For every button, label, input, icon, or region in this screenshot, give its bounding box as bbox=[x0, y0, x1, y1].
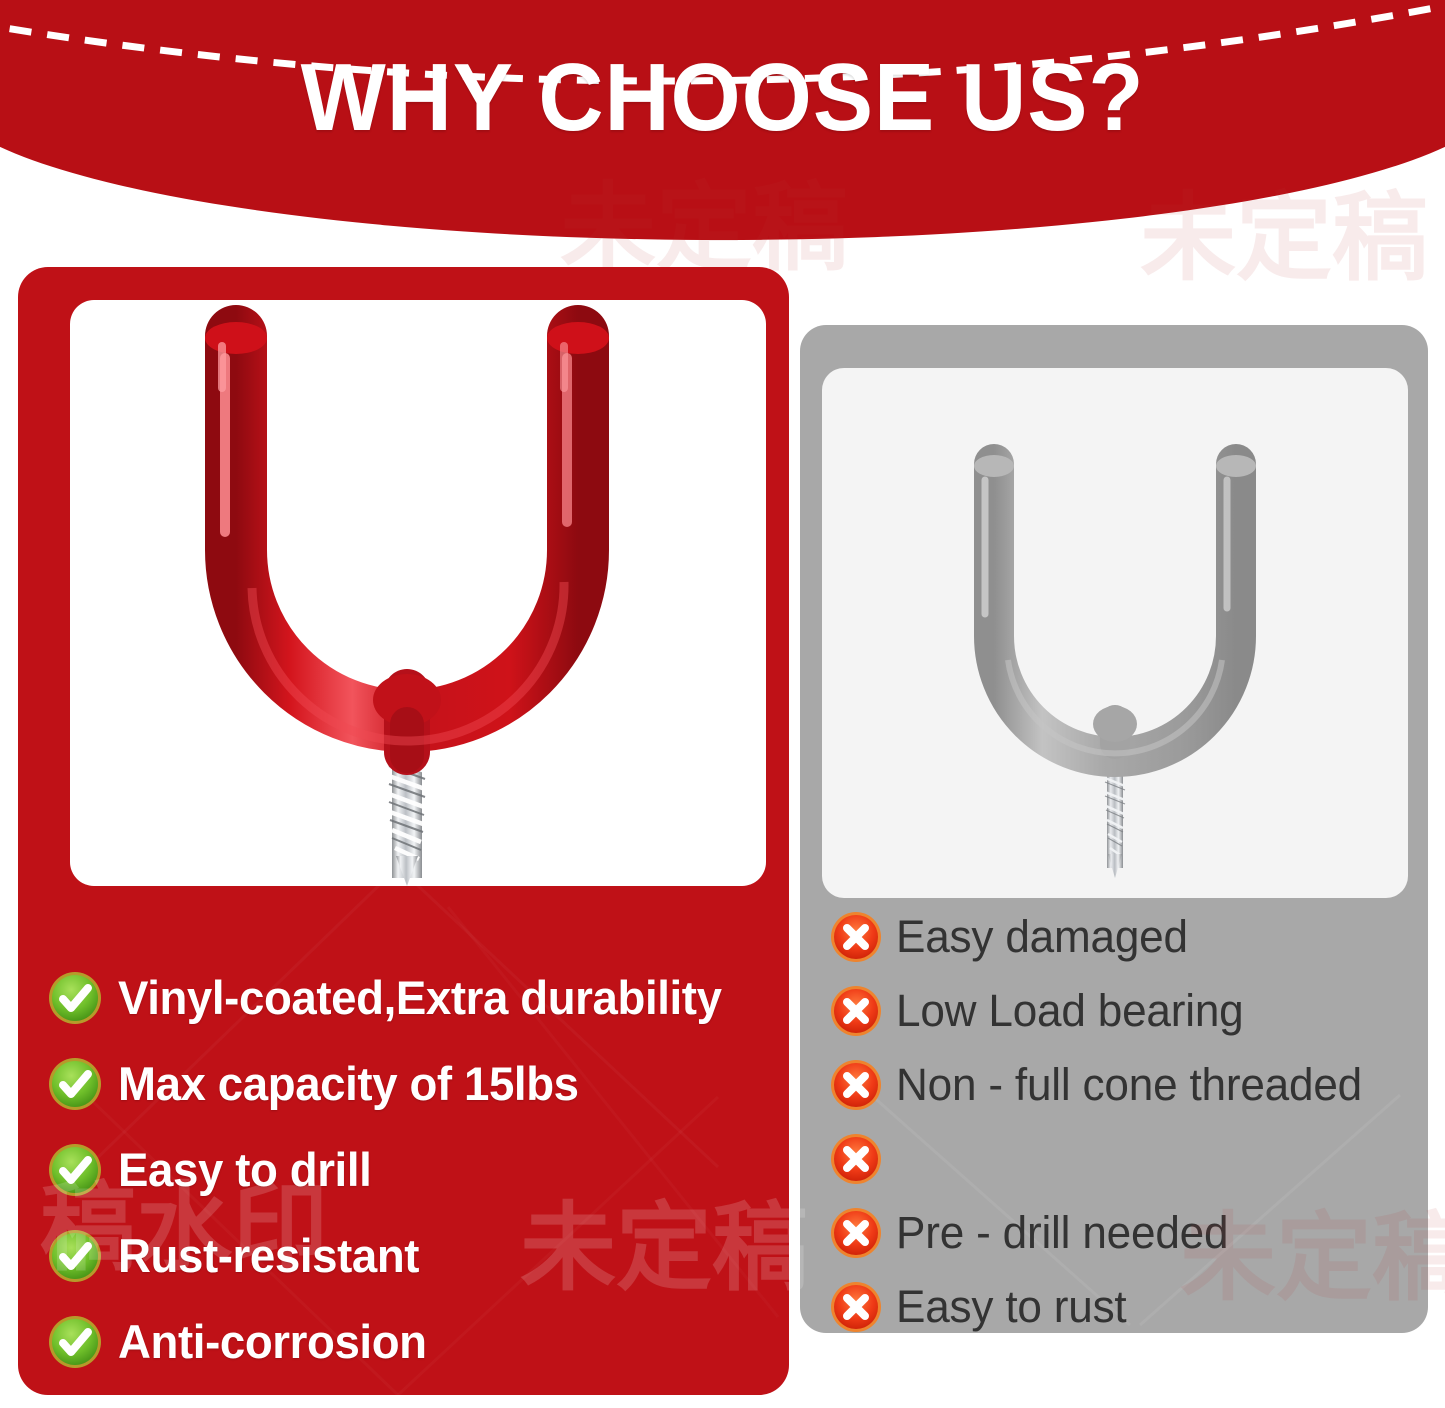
list-item-label: Rust-resistant bbox=[118, 1231, 419, 1281]
list-item: Non - full cone threaded bbox=[830, 1048, 1430, 1122]
list-item: Easy damaged bbox=[830, 900, 1430, 974]
gray-u-hook bbox=[974, 455, 1256, 757]
list-item-label: Low Load bearing bbox=[896, 987, 1244, 1035]
check-circle-icon bbox=[48, 1315, 102, 1369]
list-item: Easy to drill bbox=[48, 1127, 788, 1213]
our-features-list: Vinyl-coated,Extra durability Max capaci… bbox=[48, 955, 788, 1385]
list-item-label: Easy to rust bbox=[896, 1283, 1126, 1331]
cross-circle-icon bbox=[830, 911, 882, 963]
list-item: Vinyl-coated,Extra durability bbox=[48, 955, 788, 1041]
list-item-label: Max capacity of 15lbs bbox=[118, 1059, 579, 1109]
check-circle-icon bbox=[48, 1057, 102, 1111]
red-u-hook bbox=[205, 322, 609, 756]
gray-hook-illustration bbox=[822, 368, 1408, 898]
cross-circle-icon bbox=[830, 1133, 882, 1185]
check-circle-icon bbox=[48, 1229, 102, 1283]
list-item: Rust-resistant bbox=[48, 1213, 788, 1299]
cross-circle-icon bbox=[830, 1281, 882, 1333]
page-title: WHY CHOOSE US? bbox=[43, 48, 1401, 148]
check-circle-icon bbox=[48, 1143, 102, 1197]
cross-circle-icon bbox=[830, 1207, 882, 1259]
our-product-photo bbox=[70, 300, 766, 886]
competitor-product-photo bbox=[822, 368, 1408, 898]
check-circle-icon bbox=[48, 971, 102, 1025]
list-item: Max capacity of 15lbs bbox=[48, 1041, 788, 1127]
list-item: Easy to rust bbox=[830, 1270, 1430, 1344]
list-item-label: Vinyl-coated,Extra durability bbox=[118, 973, 722, 1023]
list-item-label: Easy to drill bbox=[118, 1145, 371, 1195]
list-item: Low Load bearing bbox=[830, 974, 1430, 1048]
cross-circle-icon bbox=[830, 985, 882, 1037]
list-item-label: Pre - drill needed bbox=[896, 1209, 1228, 1257]
list-item-label: Anti-corrosion bbox=[118, 1317, 427, 1367]
competitor-drawbacks-list: Easy damaged Low Load bearing Non - full… bbox=[830, 900, 1430, 1344]
infographic-canvas: WHY CHOOSE US? 未定稿 未定稿 bbox=[0, 0, 1445, 1408]
red-hook-illustration bbox=[70, 300, 766, 886]
list-item: Pre - drill needed bbox=[830, 1196, 1430, 1270]
list-item-badge-only bbox=[830, 1122, 1430, 1196]
cross-circle-icon bbox=[830, 1059, 882, 1111]
list-item: Anti-corrosion bbox=[48, 1299, 788, 1385]
list-item-label: Easy damaged bbox=[896, 913, 1188, 961]
list-item-label: Non - full cone threaded bbox=[896, 1061, 1362, 1109]
